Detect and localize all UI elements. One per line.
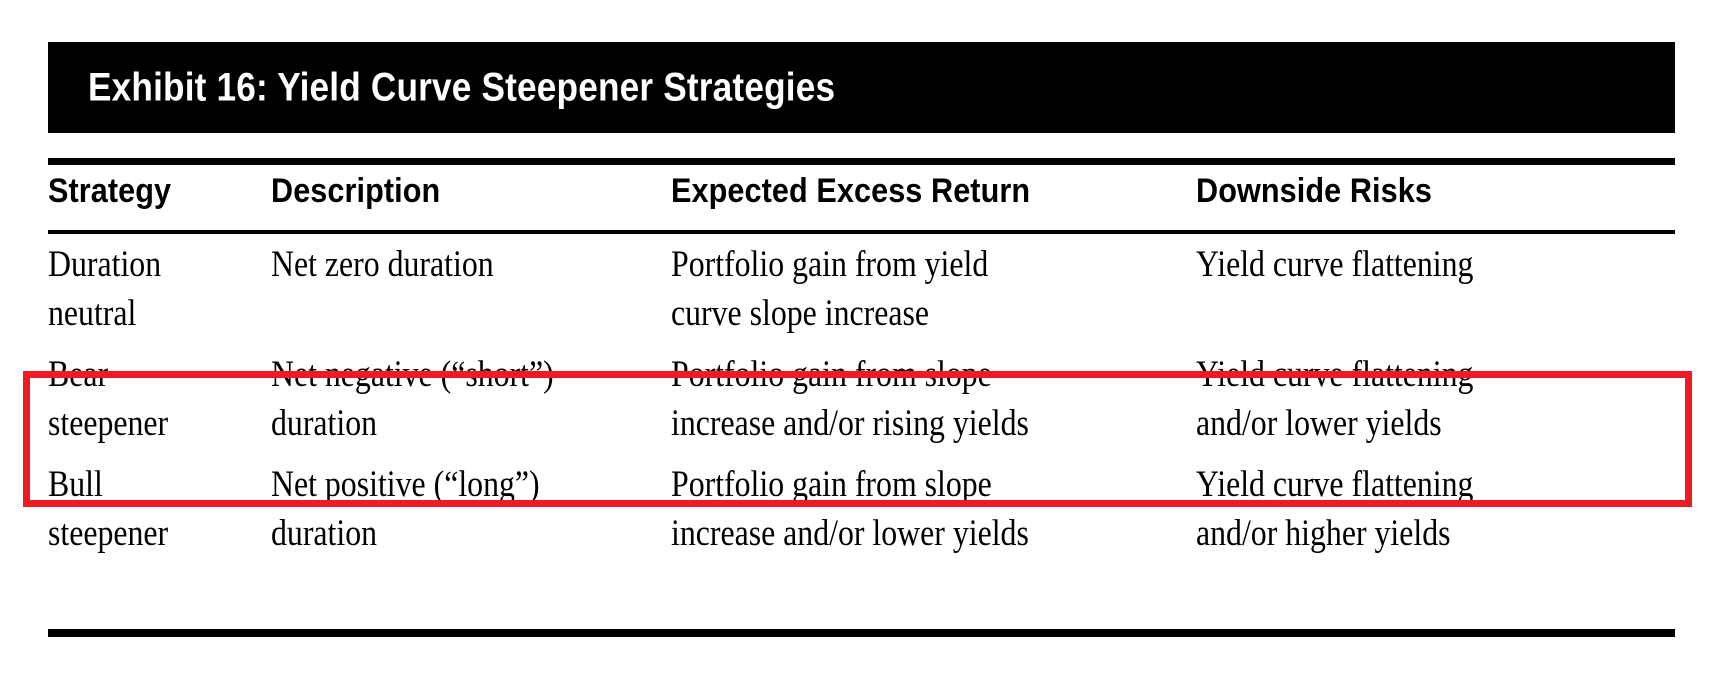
column-header-expected-excess-return: Expected Excess Return — [671, 170, 1139, 212]
cell-downside-risks: Yield curve flattening — [1196, 240, 1609, 289]
cell-description: Net positive (“long”) duration — [271, 460, 606, 558]
table-row: Bear steepener Net negative (“short”) du… — [0, 350, 1711, 460]
strategies-table: Strategy Description Expected Excess Ret… — [0, 0, 1711, 676]
cell-strategy: Duration neutral — [48, 240, 233, 338]
table-header-row: Strategy Description Expected Excess Ret… — [0, 170, 1711, 226]
cell-expected-excess-return: Portfolio gain from slope increase and/o… — [671, 460, 1118, 558]
exhibit-figure: Exhibit 16: Yield Curve Steepener Strate… — [0, 0, 1711, 676]
table-row: Duration neutral Net zero duration Portf… — [0, 240, 1711, 350]
cell-downside-risks: Yield curve flattening and/or lower yiel… — [1196, 350, 1609, 448]
column-header-downside-risks: Downside Risks — [1196, 170, 1628, 212]
cell-description: Net zero duration — [271, 240, 606, 289]
column-header-description: Description — [271, 170, 622, 212]
cell-expected-excess-return: Portfolio gain from slope increase and/o… — [671, 350, 1118, 448]
cell-strategy: Bull steepener — [48, 460, 233, 558]
table-row: Bull steepener Net positive (“long”) dur… — [0, 460, 1711, 570]
cell-downside-risks: Yield curve flattening and/or higher yie… — [1196, 460, 1609, 558]
cell-strategy: Bear steepener — [48, 350, 233, 448]
cell-expected-excess-return: Portfolio gain from yield curve slope in… — [671, 240, 1118, 338]
column-header-strategy: Strategy — [48, 170, 242, 212]
cell-description: Net negative (“short”) duration — [271, 350, 606, 448]
